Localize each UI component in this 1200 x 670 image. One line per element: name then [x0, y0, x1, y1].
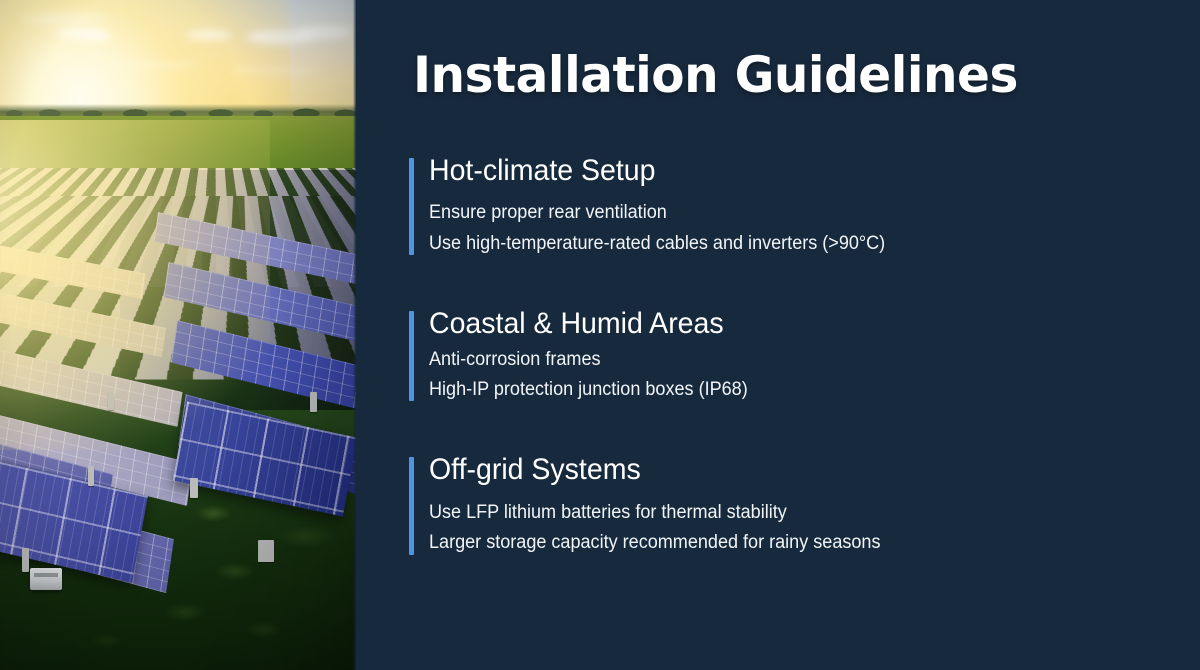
cloud	[186, 30, 232, 40]
content-panel: Installation Guidelines Hot-climate Setu…	[356, 0, 1200, 670]
guideline-section: Coastal & Humid Areas Anti-corrosion fra…	[409, 305, 1169, 405]
panel-mount-leg	[258, 540, 274, 562]
slide: Installation Guidelines Hot-climate Setu…	[0, 0, 1200, 670]
body-line: Use high-temperature-rated cables and in…	[429, 229, 1132, 259]
cloud	[296, 26, 352, 39]
guideline-section: Hot-climate Setup Ensure proper rear ven…	[409, 152, 1169, 259]
body-line: Larger storage capacity recommended for …	[429, 528, 1132, 558]
panel-mount-leg	[190, 478, 198, 498]
section-heading: Hot-climate Setup	[429, 152, 1132, 190]
solar-farm-photo	[0, 0, 356, 670]
cloud	[120, 62, 200, 69]
cloud	[230, 66, 320, 74]
section-body: Anti-corrosion frames High-IP protection…	[429, 345, 1169, 406]
section-body: Ensure proper rear ventilation Use high-…	[429, 198, 1169, 259]
inverter-unit	[30, 568, 62, 590]
body-line: Anti-corrosion frames	[429, 345, 1132, 375]
cloud	[80, 33, 114, 41]
panel-mount-leg	[108, 392, 114, 410]
section-heading: Coastal & Humid Areas	[429, 305, 1132, 343]
panel-mount-leg	[310, 392, 317, 412]
panel-mount-leg	[88, 466, 94, 486]
panel-mount-leg	[22, 548, 29, 572]
guideline-section: Off-grid Systems Use LFP lithium batteri…	[409, 451, 1169, 558]
accent-bar	[409, 457, 414, 554]
body-line: Use LFP lithium batteries for thermal st…	[429, 498, 1132, 528]
accent-bar	[409, 158, 414, 255]
photo-inner	[0, 0, 356, 670]
accent-bar	[409, 311, 414, 401]
section-body: Use LFP lithium batteries for thermal st…	[429, 498, 1169, 559]
cloud	[20, 14, 110, 24]
guideline-sections: Hot-climate Setup Ensure proper rear ven…	[409, 152, 1169, 559]
page-title: Installation Guidelines	[413, 50, 1018, 100]
body-line: High-IP protection junction boxes (IP68)	[429, 375, 1132, 405]
section-heading: Off-grid Systems	[429, 451, 1132, 489]
body-line: Ensure proper rear ventilation	[429, 198, 1132, 228]
